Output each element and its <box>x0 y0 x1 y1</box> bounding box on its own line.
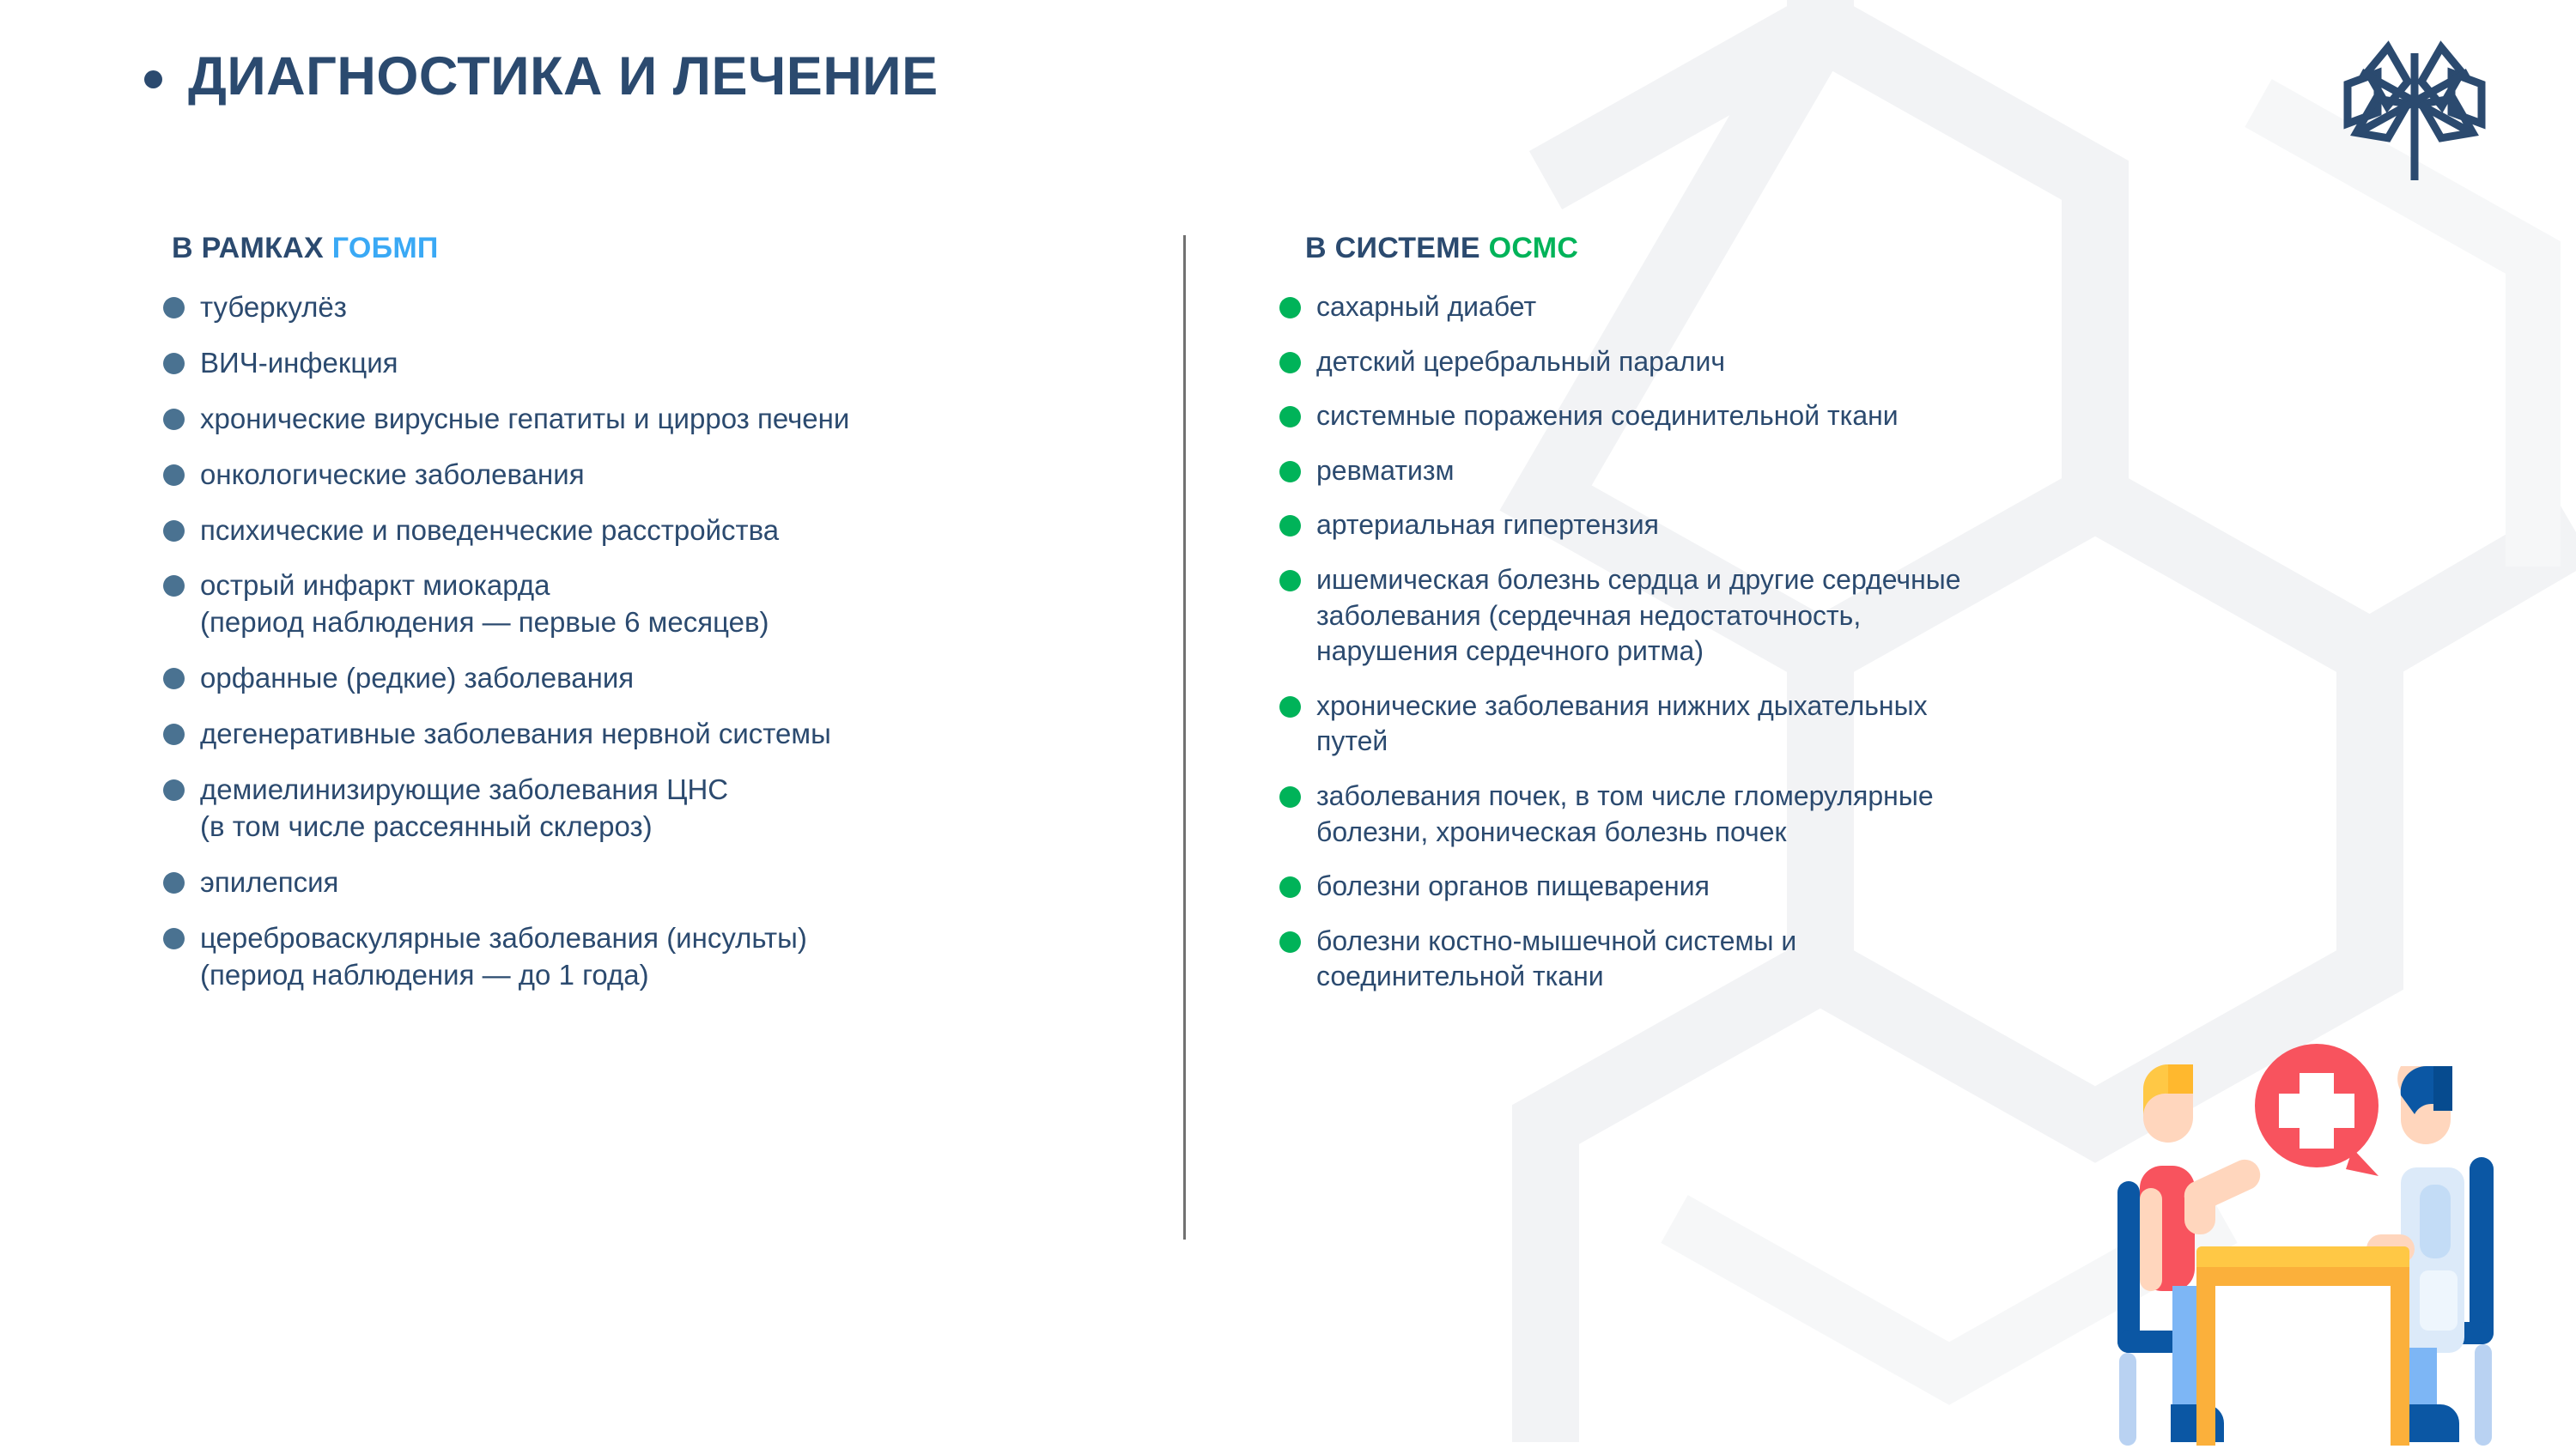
list-item-label: онкологические заболевания <box>200 457 585 494</box>
bullet-dot-icon <box>1279 876 1301 898</box>
column-gobmp-heading-accent: ГОБМП <box>332 232 439 264</box>
bullet-dot-icon <box>1279 696 1301 718</box>
list-item: хронические заболевания нижних дыхательн… <box>1279 688 2293 760</box>
list-item-label: психические и поведенческие расстройства <box>200 512 779 549</box>
table <box>2196 1246 2409 1446</box>
list-item: болезни органов пищеварения <box>1279 869 2293 905</box>
page-title-text: ДИАГНОСТИКА И ЛЕЧЕНИЕ <box>188 50 939 104</box>
gobmp-disease-list: туберкулёз ВИЧ-инфекция хронические виру… <box>163 289 1125 993</box>
list-item: острый инфаркт миокарда (период наблюден… <box>163 567 1125 641</box>
list-item: эпилепсия <box>163 864 1125 901</box>
column-gobmp-heading: В РАМКАХ ГОБМП <box>172 232 1125 265</box>
list-item: хронические вирусные гепатиты и цирроз п… <box>163 401 1125 438</box>
column-divider <box>1183 235 1186 1240</box>
bullet-dot-icon <box>1279 352 1301 373</box>
list-item-label: ВИЧ-инфекция <box>200 345 398 382</box>
bullet-dot-icon <box>1279 461 1301 482</box>
list-item-label: ревматизм <box>1316 453 1455 489</box>
list-item: туберкулёз <box>163 289 1125 326</box>
list-item-label: болезни костно-мышечной системы и соедин… <box>1316 924 1796 995</box>
column-osms-heading-accent: ОСМС <box>1489 232 1579 264</box>
list-item-label: цереброваскулярные заболевания (инсульты… <box>200 920 807 994</box>
list-item: орфанные (редкие) заболевания <box>163 660 1125 697</box>
list-item-label: дегенеративные заболевания нервной систе… <box>200 716 831 753</box>
list-item: детский церебральный паралич <box>1279 344 2293 380</box>
list-item: онкологические заболевания <box>163 457 1125 494</box>
bullet-dot-icon <box>163 353 185 374</box>
list-item: заболевания почек, в том числе гломеруля… <box>1279 779 2293 850</box>
list-item-label: хронические заболевания нижних дыхательн… <box>1316 688 1928 760</box>
column-osms-heading-prefix: В СИСТЕМЕ <box>1305 232 1489 264</box>
bullet-dot-icon <box>1279 570 1301 591</box>
list-item: ишемическая болезнь сердца и другие серд… <box>1279 562 2293 670</box>
list-item: артериальная гипертензия <box>1279 507 2293 543</box>
list-item: системные поражения соединительной ткани <box>1279 398 2293 434</box>
bullet-dot-icon <box>163 872 185 894</box>
list-item: сахарный диабет <box>1279 289 2293 325</box>
list-item-label: системные поражения соединительной ткани <box>1316 398 1899 434</box>
hexagonal-rosette-logo <box>2329 19 2500 191</box>
bullet-dot-icon <box>163 520 185 542</box>
list-item: ревматизм <box>1279 453 2293 489</box>
column-osms: В СИСТЕМЕ ОСМС сахарный диабет детский ц… <box>1279 232 2293 1014</box>
bullet-dot-icon <box>163 409 185 430</box>
list-item-label: демиелинизирующие заболевания ЦНС (в том… <box>200 772 728 846</box>
list-item-label: детский церебральный паралич <box>1316 344 1725 380</box>
bullet-dot-icon <box>1279 786 1301 808</box>
page-title: ДИАГНОСТИКА И ЛЕЧЕНИЕ <box>144 50 939 104</box>
bullet-dot-icon <box>163 668 185 689</box>
bullet-dot-icon <box>1279 406 1301 427</box>
bullet-dot-icon <box>1279 931 1301 953</box>
list-item-label: туберкулёз <box>200 289 347 326</box>
list-item-label: орфанные (редкие) заболевания <box>200 660 634 697</box>
bullet-dot-icon <box>163 724 185 745</box>
list-item-label: эпилепсия <box>200 864 338 901</box>
list-item: психические и поведенческие расстройства <box>163 512 1125 549</box>
list-item-label: сахарный диабет <box>1316 289 1536 325</box>
bullet-dot-icon <box>163 928 185 949</box>
bullet-dot-icon <box>163 464 185 486</box>
list-item-label: острый инфаркт миокарда (период наблюден… <box>200 567 769 641</box>
bullet-dot-icon <box>163 297 185 318</box>
list-item: ВИЧ-инфекция <box>163 345 1125 382</box>
bullet-dot-icon <box>163 779 185 801</box>
column-gobmp-heading-prefix: В РАМКАХ <box>172 232 332 264</box>
list-item: демиелинизирующие заболевания ЦНС (в том… <box>163 772 1125 846</box>
bullet-dot-icon <box>163 575 185 597</box>
column-gobmp: В РАМКАХ ГОБМП туберкулёз ВИЧ-инфекция х… <box>163 232 1125 1012</box>
column-osms-heading: В СИСТЕМЕ ОСМС <box>1305 232 2293 265</box>
list-item-label: ишемическая болезнь сердца и другие серд… <box>1316 562 1961 670</box>
bullet-dot-icon <box>1279 297 1301 318</box>
list-item-label: болезни органов пищеварения <box>1316 869 1710 905</box>
title-bullet-icon <box>144 70 162 88</box>
list-item: цереброваскулярные заболевания (инсульты… <box>163 920 1125 994</box>
list-item-label: заболевания почек, в том числе гломеруля… <box>1316 779 1934 850</box>
doctor-patient-consultation-illustration <box>2095 1013 2542 1449</box>
medical-cross-speech-bubble <box>2255 1044 2379 1176</box>
list-item: дегенеративные заболевания нервной систе… <box>163 716 1125 753</box>
osms-disease-list: сахарный диабет детский церебральный пар… <box>1279 289 2293 995</box>
list-item: болезни костно-мышечной системы и соедин… <box>1279 924 2293 995</box>
list-item-label: артериальная гипертензия <box>1316 507 1659 543</box>
list-item-label: хронические вирусные гепатиты и цирроз п… <box>200 401 849 438</box>
bullet-dot-icon <box>1279 515 1301 537</box>
